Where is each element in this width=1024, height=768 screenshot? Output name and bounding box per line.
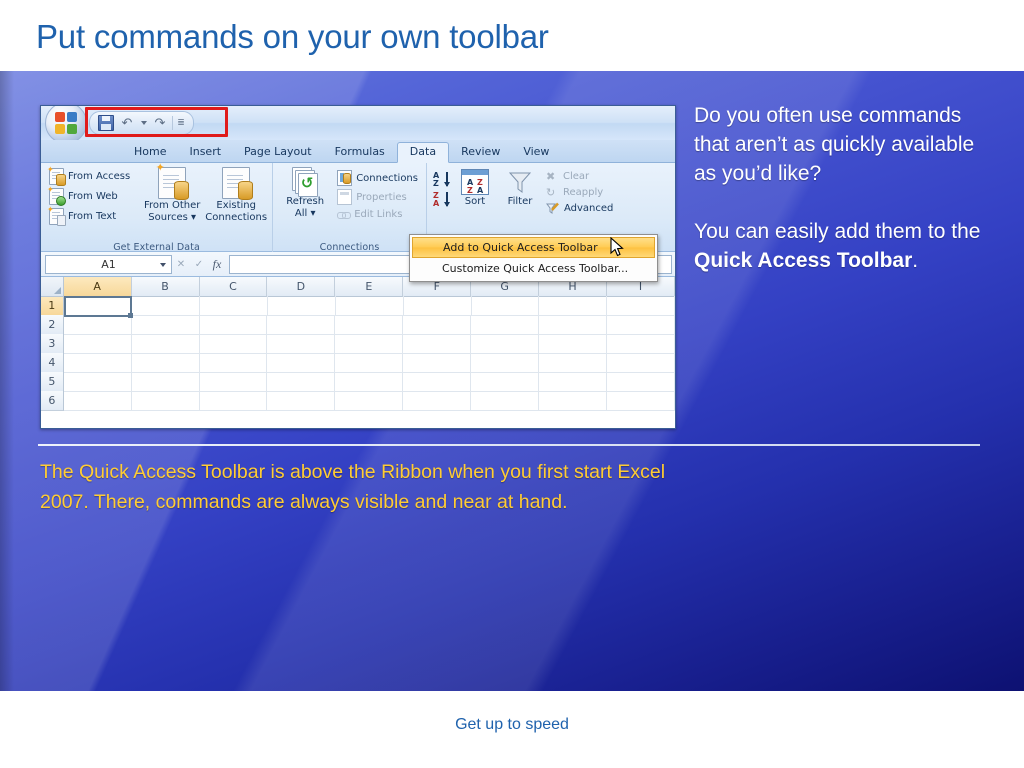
cell-i6[interactable] xyxy=(607,391,675,411)
cell-d3[interactable] xyxy=(267,334,335,354)
cell-c6[interactable] xyxy=(200,391,268,411)
footer-link[interactable]: Get up to speed xyxy=(0,716,1024,734)
reapply-button[interactable]: ↻ Reapply xyxy=(544,185,615,200)
from-access-label: From Access xyxy=(68,171,130,182)
row-header-1[interactable]: 1 xyxy=(41,296,64,316)
refresh-all-button[interactable]: ↺ Refresh All ▾ xyxy=(279,167,331,219)
column-header-b[interactable]: B xyxy=(132,277,200,297)
cell-a6[interactable] xyxy=(64,391,132,411)
grid-row: 2 xyxy=(41,315,675,334)
cell-b2[interactable] xyxy=(132,315,200,335)
cell-i3[interactable] xyxy=(607,334,675,354)
column-header-c[interactable]: C xyxy=(200,277,268,297)
cell-d4[interactable] xyxy=(267,353,335,373)
cell-b1[interactable] xyxy=(132,296,200,316)
tab-formulas[interactable]: Formulas xyxy=(324,142,396,162)
grid-row: 5 xyxy=(41,372,675,391)
cell-c1[interactable] xyxy=(200,296,268,316)
cell-i2[interactable] xyxy=(607,315,675,335)
tab-page-layout[interactable]: Page Layout xyxy=(233,142,323,162)
external-data-small-commands: ✦ From Access ✦ From Web ✦ From Text xyxy=(47,167,132,226)
cell-i5[interactable] xyxy=(607,372,675,392)
cell-e6[interactable] xyxy=(335,391,403,411)
properties-icon xyxy=(337,189,352,205)
column-header-d[interactable]: D xyxy=(267,277,335,297)
cell-i4[interactable] xyxy=(607,353,675,373)
row-header-5[interactable]: 5 xyxy=(41,372,64,392)
cell-e2[interactable] xyxy=(335,315,403,335)
mouse-cursor-icon xyxy=(610,237,626,259)
sort-ascending-icon[interactable]: AZ xyxy=(433,170,450,189)
existing-connections-icon xyxy=(222,167,250,199)
edit-links-button[interactable]: Edit Links xyxy=(335,207,420,221)
sort-button[interactable]: A Z Z A Sort xyxy=(454,169,496,207)
from-web-label: From Web xyxy=(68,191,118,202)
from-web-button[interactable]: ✦ From Web xyxy=(47,187,132,206)
ribbon-group-connections: ↺ Refresh All ▾ Connections Properties xyxy=(272,163,426,255)
slide-body-panel: ↶ ↷ ≣ Home Insert Page Layout Formulas D… xyxy=(0,71,1024,691)
name-box-value: A1 xyxy=(101,258,116,271)
sort-descending-icon[interactable]: ZA xyxy=(433,190,450,209)
cell-f4[interactable] xyxy=(403,353,471,373)
row-header-3[interactable]: 3 xyxy=(41,334,64,354)
context-menu: Add to Quick Access Toolbar Customize Qu… xyxy=(409,234,658,282)
cell-d1[interactable] xyxy=(268,296,336,316)
edit-links-label: Edit Links xyxy=(354,209,402,220)
cell-d6[interactable] xyxy=(267,391,335,411)
refresh-all-label2: All ▾ xyxy=(295,208,316,219)
cell-b5[interactable] xyxy=(132,372,200,392)
reapply-label: Reapply xyxy=(563,187,603,198)
column-header-a[interactable]: A xyxy=(64,277,132,297)
cell-h2[interactable] xyxy=(539,315,607,335)
para2-bold: Quick Access Toolbar xyxy=(694,249,912,272)
connections-label: Connections xyxy=(356,173,418,184)
grid-row: 1 xyxy=(41,296,675,315)
row-header-2[interactable]: 2 xyxy=(41,315,64,335)
from-other-sources-button[interactable]: ✦ From Other Sources ▾ xyxy=(142,167,202,223)
from-other-sources-label: From Other xyxy=(144,200,200,211)
existing-connections-button[interactable]: Existing Connections xyxy=(206,167,266,223)
explanatory-paragraph-1: Do you often use commands that aren’t as… xyxy=(694,101,994,188)
row-header-6[interactable]: 6 xyxy=(41,391,64,411)
cell-e3[interactable] xyxy=(335,334,403,354)
filter-small-commands: ✖ Clear ↻ Reapply xyxy=(544,169,615,216)
advanced-label: Advanced xyxy=(564,203,613,214)
grid-row: 4 xyxy=(41,353,675,372)
cell-b4[interactable] xyxy=(132,353,200,373)
name-box-chevron-down-icon[interactable] xyxy=(160,263,166,267)
properties-button[interactable]: Properties xyxy=(335,188,420,206)
cell-f6[interactable] xyxy=(403,391,471,411)
cell-d2[interactable] xyxy=(267,315,335,335)
cell-a3[interactable] xyxy=(64,334,132,354)
page-title: Put commands on your own toolbar xyxy=(36,18,936,56)
existing-connections-label2: Connections xyxy=(205,212,267,223)
filter-icon xyxy=(507,169,533,195)
from-web-icon: ✦ xyxy=(49,188,64,205)
office-logo-icon xyxy=(55,112,77,134)
name-box[interactable]: A1 xyxy=(45,255,172,274)
tab-insert[interactable]: Insert xyxy=(178,142,232,162)
cell-i1[interactable] xyxy=(607,296,675,316)
cell-g1[interactable] xyxy=(472,296,540,316)
tab-view[interactable]: View xyxy=(512,142,560,162)
filter-button[interactable]: Filter xyxy=(500,169,540,207)
refresh-all-icon: ↺ xyxy=(292,167,318,195)
cell-h6[interactable] xyxy=(539,391,607,411)
reapply-icon: ↻ xyxy=(546,186,559,199)
tab-review[interactable]: Review xyxy=(450,142,511,162)
row-header-4[interactable]: 4 xyxy=(41,353,64,373)
ribbon-group-get-external-data: ✦ From Access ✦ From Web ✦ From Text xyxy=(41,163,272,255)
cell-a5[interactable] xyxy=(64,372,132,392)
qat-highlight-box xyxy=(85,107,228,137)
from-other-sources-label2: Sources ▾ xyxy=(148,212,196,223)
tab-data[interactable]: Data xyxy=(397,142,449,163)
spreadsheet-grid: A B C D E F G H I 1 xyxy=(41,277,675,410)
cell-h3[interactable] xyxy=(539,334,607,354)
connections-button[interactable]: Connections xyxy=(335,169,420,187)
cell-e1[interactable] xyxy=(336,296,404,316)
cell-g2[interactable] xyxy=(471,315,539,335)
para2-pre: You can easily add them to the xyxy=(694,220,980,243)
from-access-icon: ✦ xyxy=(49,168,64,185)
cell-f1[interactable] xyxy=(404,296,472,316)
cell-g5[interactable] xyxy=(471,372,539,392)
cell-a2[interactable] xyxy=(64,315,132,335)
cell-h4[interactable] xyxy=(539,353,607,373)
grid-row: 6 xyxy=(41,391,675,410)
cell-e4[interactable] xyxy=(335,353,403,373)
caption-text: The Quick Access Toolbar is above the Ri… xyxy=(40,457,700,517)
connections-small-commands: Connections Properties Edit Links xyxy=(335,169,420,221)
clear-icon: ✖ xyxy=(546,170,559,183)
from-other-sources-icon: ✦ xyxy=(158,167,186,199)
enter-formula-icon[interactable]: ✓ xyxy=(190,255,208,273)
select-all-corner[interactable] xyxy=(41,277,64,297)
connections-icon xyxy=(337,170,352,186)
menu-item-customize-quick-access-toolbar[interactable]: Customize Quick Access Toolbar... xyxy=(412,258,655,279)
cell-b3[interactable] xyxy=(132,334,200,354)
office-orb-icon[interactable] xyxy=(45,105,87,144)
cell-c3[interactable] xyxy=(200,334,268,354)
cell-g4[interactable] xyxy=(471,353,539,373)
excel-title-bar: ↶ ↷ ≣ xyxy=(41,106,675,140)
sort-arrows: AZ ZA xyxy=(433,170,450,209)
from-text-icon: ✦ xyxy=(49,208,64,225)
cell-f2[interactable] xyxy=(403,315,471,335)
cancel-formula-icon[interactable]: ✕ xyxy=(172,255,190,273)
cell-f5[interactable] xyxy=(403,372,471,392)
from-access-button[interactable]: ✦ From Access xyxy=(47,167,132,186)
cell-d5[interactable] xyxy=(267,372,335,392)
cell-a4[interactable] xyxy=(64,353,132,373)
excel-screenshot: ↶ ↷ ≣ Home Insert Page Layout Formulas D… xyxy=(40,105,676,429)
sort-icon: A Z Z A xyxy=(461,169,489,195)
from-text-button[interactable]: ✦ From Text xyxy=(47,207,132,226)
cell-f3[interactable] xyxy=(403,334,471,354)
from-text-label: From Text xyxy=(68,211,116,222)
grid-row: 3 xyxy=(41,334,675,353)
sort-label: Sort xyxy=(465,196,486,207)
para2-post: . xyxy=(912,249,918,272)
cell-h1[interactable] xyxy=(539,296,607,316)
tab-home[interactable]: Home xyxy=(123,142,177,162)
cell-b6[interactable] xyxy=(132,391,200,411)
clear-button[interactable]: ✖ Clear xyxy=(544,169,615,184)
cell-e5[interactable] xyxy=(335,372,403,392)
horizontal-divider xyxy=(38,444,980,446)
ribbon-tab-strip: Home Insert Page Layout Formulas Data Re… xyxy=(41,140,675,163)
column-header-e[interactable]: E xyxy=(335,277,403,297)
filter-label: Filter xyxy=(508,196,533,207)
advanced-button[interactable]: Advanced xyxy=(544,201,615,216)
cell-g6[interactable] xyxy=(471,391,539,411)
cell-g3[interactable] xyxy=(471,334,539,354)
edit-links-icon xyxy=(337,208,350,220)
properties-label: Properties xyxy=(356,192,407,203)
cell-c5[interactable] xyxy=(200,372,268,392)
advanced-icon xyxy=(546,202,560,215)
existing-connections-label: Existing xyxy=(216,200,256,211)
clear-label: Clear xyxy=(563,171,589,182)
explanatory-paragraph-2: You can easily add them to the Quick Acc… xyxy=(694,217,994,275)
cell-c4[interactable] xyxy=(200,353,268,373)
cell-a1[interactable] xyxy=(64,296,133,317)
insert-function-icon[interactable]: fx xyxy=(208,255,226,273)
cell-h5[interactable] xyxy=(539,372,607,392)
explanatory-text: Do you often use commands that aren’t as… xyxy=(694,101,994,275)
refresh-all-label: Refresh xyxy=(286,196,324,207)
cell-c2[interactable] xyxy=(200,315,268,335)
